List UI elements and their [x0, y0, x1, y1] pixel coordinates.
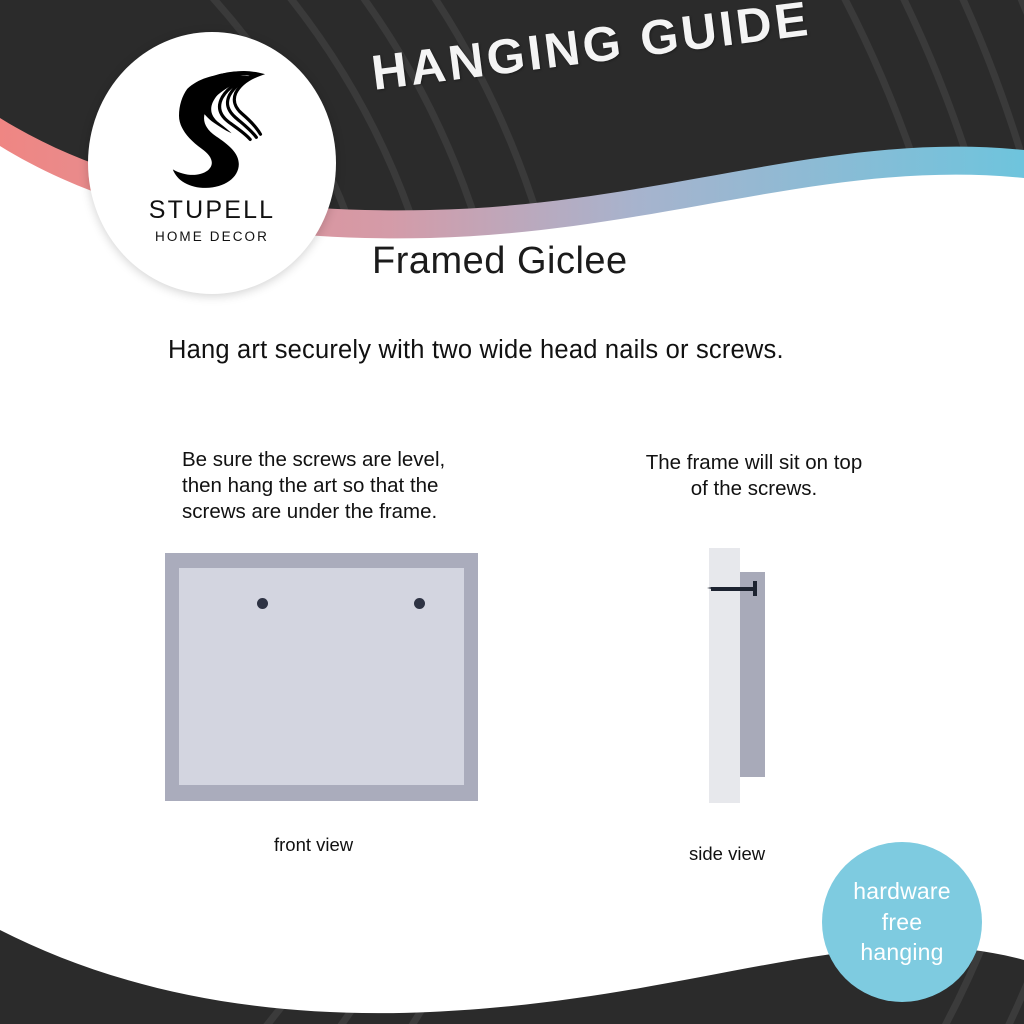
- screw-head-icon: [753, 581, 757, 596]
- product-type-subtitle: Framed Giclee: [372, 240, 628, 283]
- screw-shaft-icon: [711, 587, 755, 591]
- badge-line: hardware: [853, 876, 951, 906]
- caption-line: then hang the art so that the: [182, 473, 482, 499]
- brand-tagline: HOME DECOR: [155, 230, 269, 244]
- stupell-s-swoosh-icon: [150, 60, 274, 192]
- brand-name: STUPELL: [149, 198, 276, 223]
- side-view-label: side view: [689, 843, 765, 865]
- caption-line: Be sure the screws are level,: [182, 447, 482, 473]
- brand-logo-badge: STUPELL HOME DECOR: [88, 32, 336, 294]
- side-view-diagram: [700, 540, 790, 810]
- side-view-frame: [740, 572, 765, 777]
- lead-instruction: Hang art securely with two wide head nai…: [168, 336, 888, 365]
- caption-line: The frame will sit on top: [604, 450, 904, 476]
- side-view-caption: The frame will sit on top of the screws.: [604, 450, 904, 502]
- page-title: HANGING GUIDE: [368, 0, 813, 102]
- front-view-diagram: [165, 553, 478, 801]
- front-view-caption: Be sure the screws are level, then hang …: [182, 447, 482, 526]
- screw-head-dot-right: [414, 598, 425, 609]
- front-view-art-panel: [179, 568, 464, 785]
- hardware-free-hanging-badge: hardware free hanging: [822, 842, 982, 1002]
- badge-line: hanging: [860, 937, 943, 967]
- front-view-label: front view: [274, 834, 353, 856]
- hanging-guide-infographic: STUPELL HOME DECOR HANGING GUIDE Framed …: [0, 0, 1024, 1024]
- screw-head-dot-left: [257, 598, 268, 609]
- caption-line: of the screws.: [604, 476, 904, 502]
- caption-line: screws are under the frame.: [182, 499, 482, 525]
- badge-line: free: [882, 907, 922, 937]
